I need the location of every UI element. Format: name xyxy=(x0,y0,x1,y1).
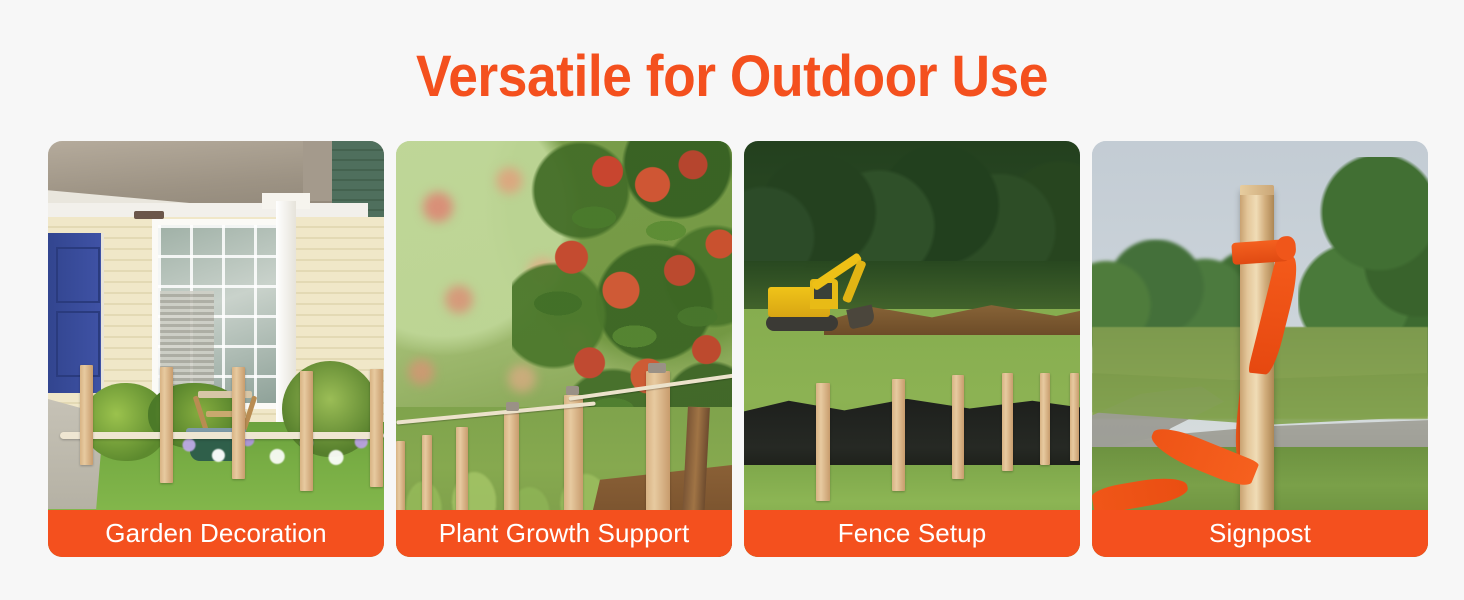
wooden-stake xyxy=(160,367,173,483)
card-caption: Fence Setup xyxy=(744,510,1080,557)
blue-front-door xyxy=(48,233,104,393)
use-case-card-plant-growth-support[interactable]: Plant Growth Support xyxy=(396,141,732,557)
card-caption: Plant Growth Support xyxy=(396,510,732,557)
wire-clip xyxy=(566,386,579,395)
wooden-stake xyxy=(1070,373,1079,461)
rope-border xyxy=(60,432,384,439)
fence-setup-photo xyxy=(744,141,1080,557)
wooden-stake xyxy=(816,383,830,501)
wooden-stake xyxy=(370,369,383,487)
wooden-stake xyxy=(300,371,313,491)
card-caption: Garden Decoration xyxy=(48,510,384,557)
wooden-stake xyxy=(456,427,468,523)
plant-growth-support-photo xyxy=(396,141,732,557)
use-case-card-fence-setup[interactable]: Fence Setup xyxy=(744,141,1080,557)
wooden-stake xyxy=(952,375,964,479)
wooden-stake xyxy=(396,441,405,511)
wire-clip xyxy=(648,363,666,373)
wooden-stake xyxy=(422,435,432,515)
orange-ribbon-knot xyxy=(1231,239,1288,265)
stake-top xyxy=(1240,185,1274,195)
use-case-card-garden-decoration[interactable]: Garden Decoration xyxy=(48,141,384,557)
excavator-bucket xyxy=(846,305,876,330)
wooden-stake xyxy=(892,379,905,491)
page-title: Versatile for Outdoor Use xyxy=(59,42,1406,112)
use-case-card-grid: Garden Decoration xyxy=(48,141,1416,557)
yellow-excavator xyxy=(768,259,886,331)
wooden-stake xyxy=(80,365,93,465)
excavator-track xyxy=(766,315,838,331)
porch-light xyxy=(134,211,164,219)
wooden-stake xyxy=(1040,373,1050,465)
flower-bed xyxy=(168,419,378,471)
card-caption: Signpost xyxy=(1092,510,1428,557)
wire-clip xyxy=(506,402,519,411)
signpost-photo xyxy=(1092,141,1428,557)
wooden-stake xyxy=(1002,373,1013,471)
garden-decoration-photo xyxy=(48,141,384,557)
use-case-card-signpost[interactable]: Signpost xyxy=(1092,141,1428,557)
versatile-outdoor-use-banner: Versatile for Outdoor Use xyxy=(0,0,1464,600)
wooden-stake xyxy=(232,367,245,479)
